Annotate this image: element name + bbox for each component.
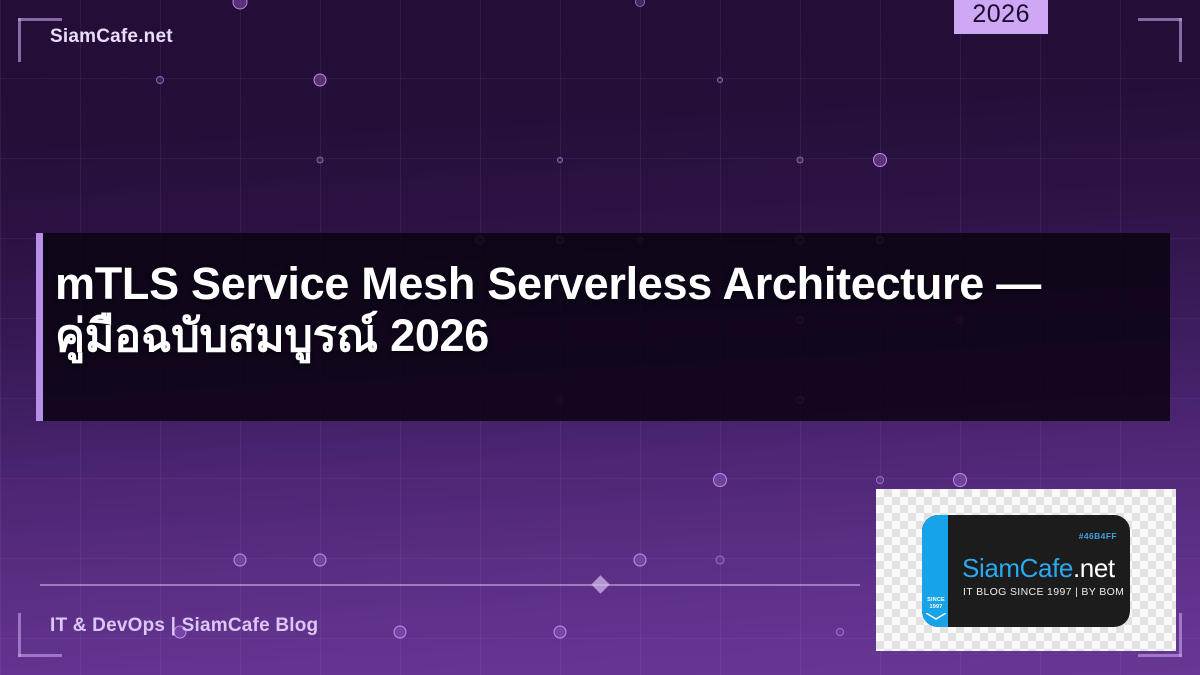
decorative-dot xyxy=(717,77,723,83)
divider-diamond-icon xyxy=(591,575,609,593)
decorative-dot xyxy=(876,476,884,484)
logo-card: SINCE 1997 #46B4FF SiamCafe.net IT BLOG … xyxy=(876,489,1176,651)
logo-wordmark: SiamCafe.net xyxy=(962,555,1115,581)
decorative-dot xyxy=(557,157,563,163)
decorative-dot xyxy=(233,0,248,10)
decorative-dot xyxy=(554,626,567,639)
decorative-dot xyxy=(156,76,164,84)
decorative-dot xyxy=(713,473,727,487)
decorative-dot xyxy=(234,554,247,567)
footer-caption: IT & DevOps | SiamCafe Blog xyxy=(50,615,318,637)
logo-tagline: IT BLOG SINCE 1997 | BY BOM xyxy=(963,587,1124,598)
decorative-dot xyxy=(394,626,407,639)
decorative-dot xyxy=(317,157,324,164)
page-title: mTLS Service Mesh Serverless Architectur… xyxy=(55,258,1145,362)
ribbon-line-2: 1997 xyxy=(929,604,942,611)
logo-wordmark-primary: SiamCafe xyxy=(962,553,1073,583)
decorative-dot xyxy=(797,157,804,164)
logo-badge: SINCE 1997 #46B4FF SiamCafe.net IT BLOG … xyxy=(922,515,1130,627)
hex-color-label: #46B4FF xyxy=(1079,531,1117,541)
logo-wordmark-suffix: .net xyxy=(1073,553,1115,583)
year-badge: 2026 xyxy=(954,0,1048,34)
since-ribbon-badge: SINCE 1997 xyxy=(924,595,948,623)
ribbon-chevron-icon xyxy=(926,613,946,620)
decorative-dot xyxy=(873,153,887,167)
decorative-dot xyxy=(836,628,844,636)
site-name-label: SiamCafe.net xyxy=(50,26,173,48)
decorative-dot xyxy=(716,556,725,565)
decorative-dot xyxy=(314,74,327,87)
corner-bracket-top-right xyxy=(1138,18,1182,62)
decorative-dot xyxy=(953,473,967,487)
footer-divider xyxy=(40,584,860,586)
decorative-dot xyxy=(314,554,327,567)
title-accent-bar xyxy=(36,233,43,421)
decorative-dot xyxy=(635,0,645,7)
decorative-dot xyxy=(634,554,647,567)
banner-canvas: SiamCafe.net 2026 mTLS Service Mesh Serv… xyxy=(0,0,1200,675)
